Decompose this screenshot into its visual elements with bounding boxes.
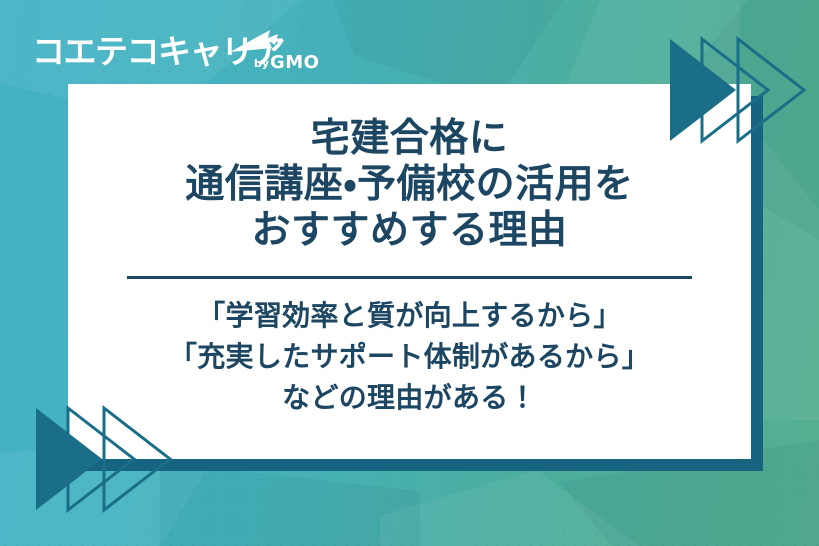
title-line-3: おすすめする理由 xyxy=(68,208,751,254)
logo-gmo-text: GMO xyxy=(270,52,320,73)
facet-shape xyxy=(380,470,640,546)
title-line-2: 通信講座・予備校の活用を xyxy=(68,162,751,208)
koeteko-career-logo: コエテコキャリア by GMO xyxy=(32,26,332,78)
subtitle-line-3: などの理由がある！ xyxy=(68,377,751,418)
dot-texture xyxy=(470,462,819,546)
subtitle-line-2: 「充実したサポート体制があるから」 xyxy=(68,336,751,377)
subtitle-line-1: 「学習効率と質が向上するから」 xyxy=(68,295,751,336)
page-title: 宅建合格に 通信講座・予備校の活用を おすすめする理由 xyxy=(68,84,751,254)
subtitle: 「学習効率と質が向上するから」 「充実したサポート体制があるから」 などの理由が… xyxy=(68,279,751,418)
banner-canvas: コエテコキャリア by GMO 宅建合格に 通信講座・予備校の活用を おすすめす… xyxy=(0,0,819,546)
facet-shape xyxy=(160,462,420,546)
card-content: 宅建合格に 通信講座・予備校の活用を おすすめする理由 「学習効率と質が向上する… xyxy=(68,84,751,459)
logo-wordmark: コエテコキャリア xyxy=(32,32,285,71)
title-line-1: 宅建合格に xyxy=(68,116,751,162)
logo-by-text: by xyxy=(254,57,269,70)
